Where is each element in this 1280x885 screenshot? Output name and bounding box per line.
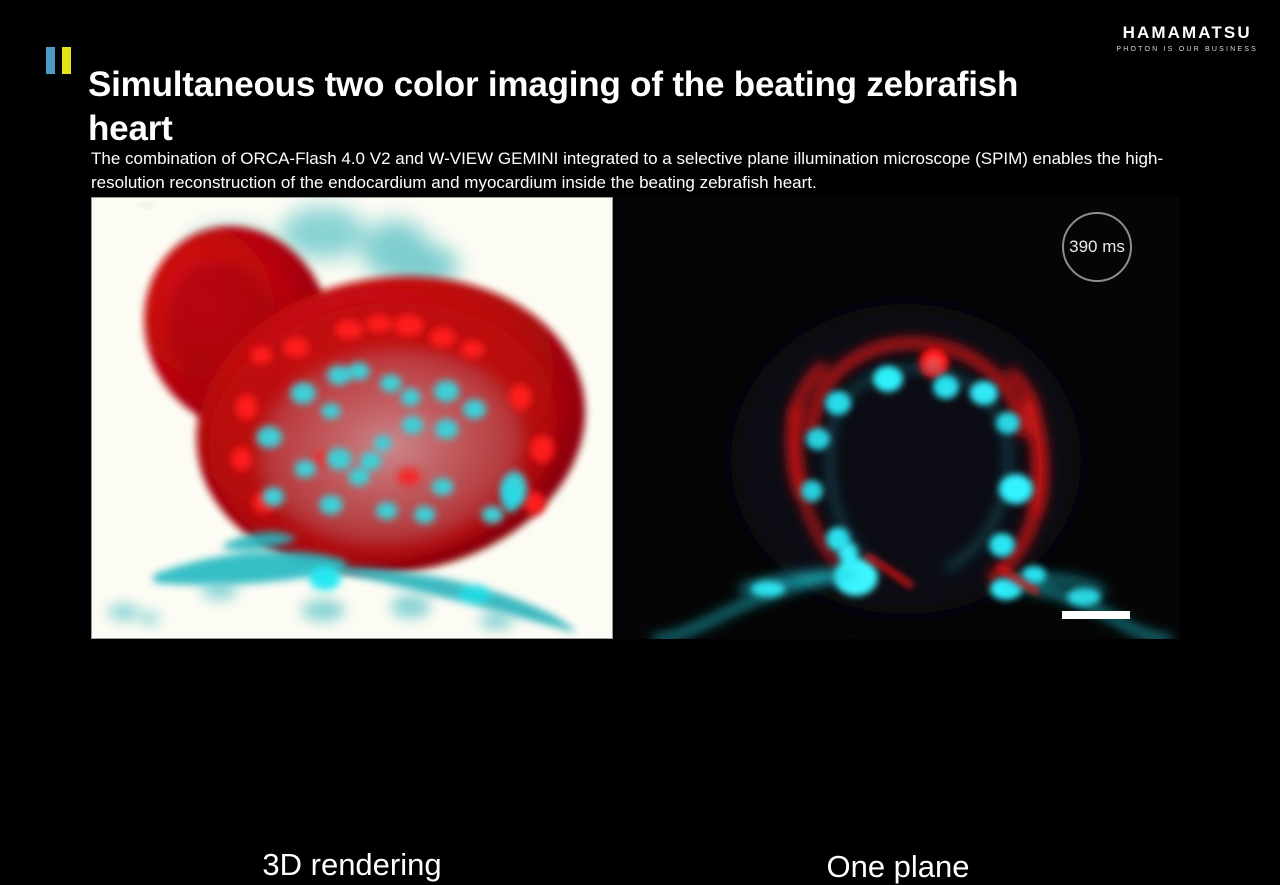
- timer-badge: 390 ms: [1062, 212, 1132, 282]
- hamamatsu-logo: HAMAMATSU PHOTON IS OUR BUSINESS: [1116, 24, 1258, 53]
- caption-3d-rendering: 3D rendering: [91, 847, 613, 883]
- figure-3d-rendering: [91, 197, 613, 639]
- accent-bar-yellow: [62, 47, 71, 74]
- timer-value: 390 ms: [1069, 237, 1125, 257]
- brand-name: HAMAMATSU: [1116, 24, 1258, 41]
- accent-bar-blue: [46, 47, 55, 74]
- figure-area: 3D rendering: [0, 197, 1280, 639]
- description-text: The combination of ORCA-Flash 4.0 V2 and…: [91, 147, 1226, 195]
- zebrafish-heart-3d-render: [92, 198, 612, 638]
- caption-one-plane: One plane: [616, 849, 1180, 885]
- brand-tagline: PHOTON IS OUR BUSINESS: [1116, 46, 1258, 53]
- scale-bar: [1062, 611, 1130, 619]
- page-title: Simultaneous two color imaging of the be…: [88, 63, 1056, 150]
- title-accent-bars: [46, 47, 71, 74]
- figure-one-plane: 390 ms: [616, 197, 1180, 639]
